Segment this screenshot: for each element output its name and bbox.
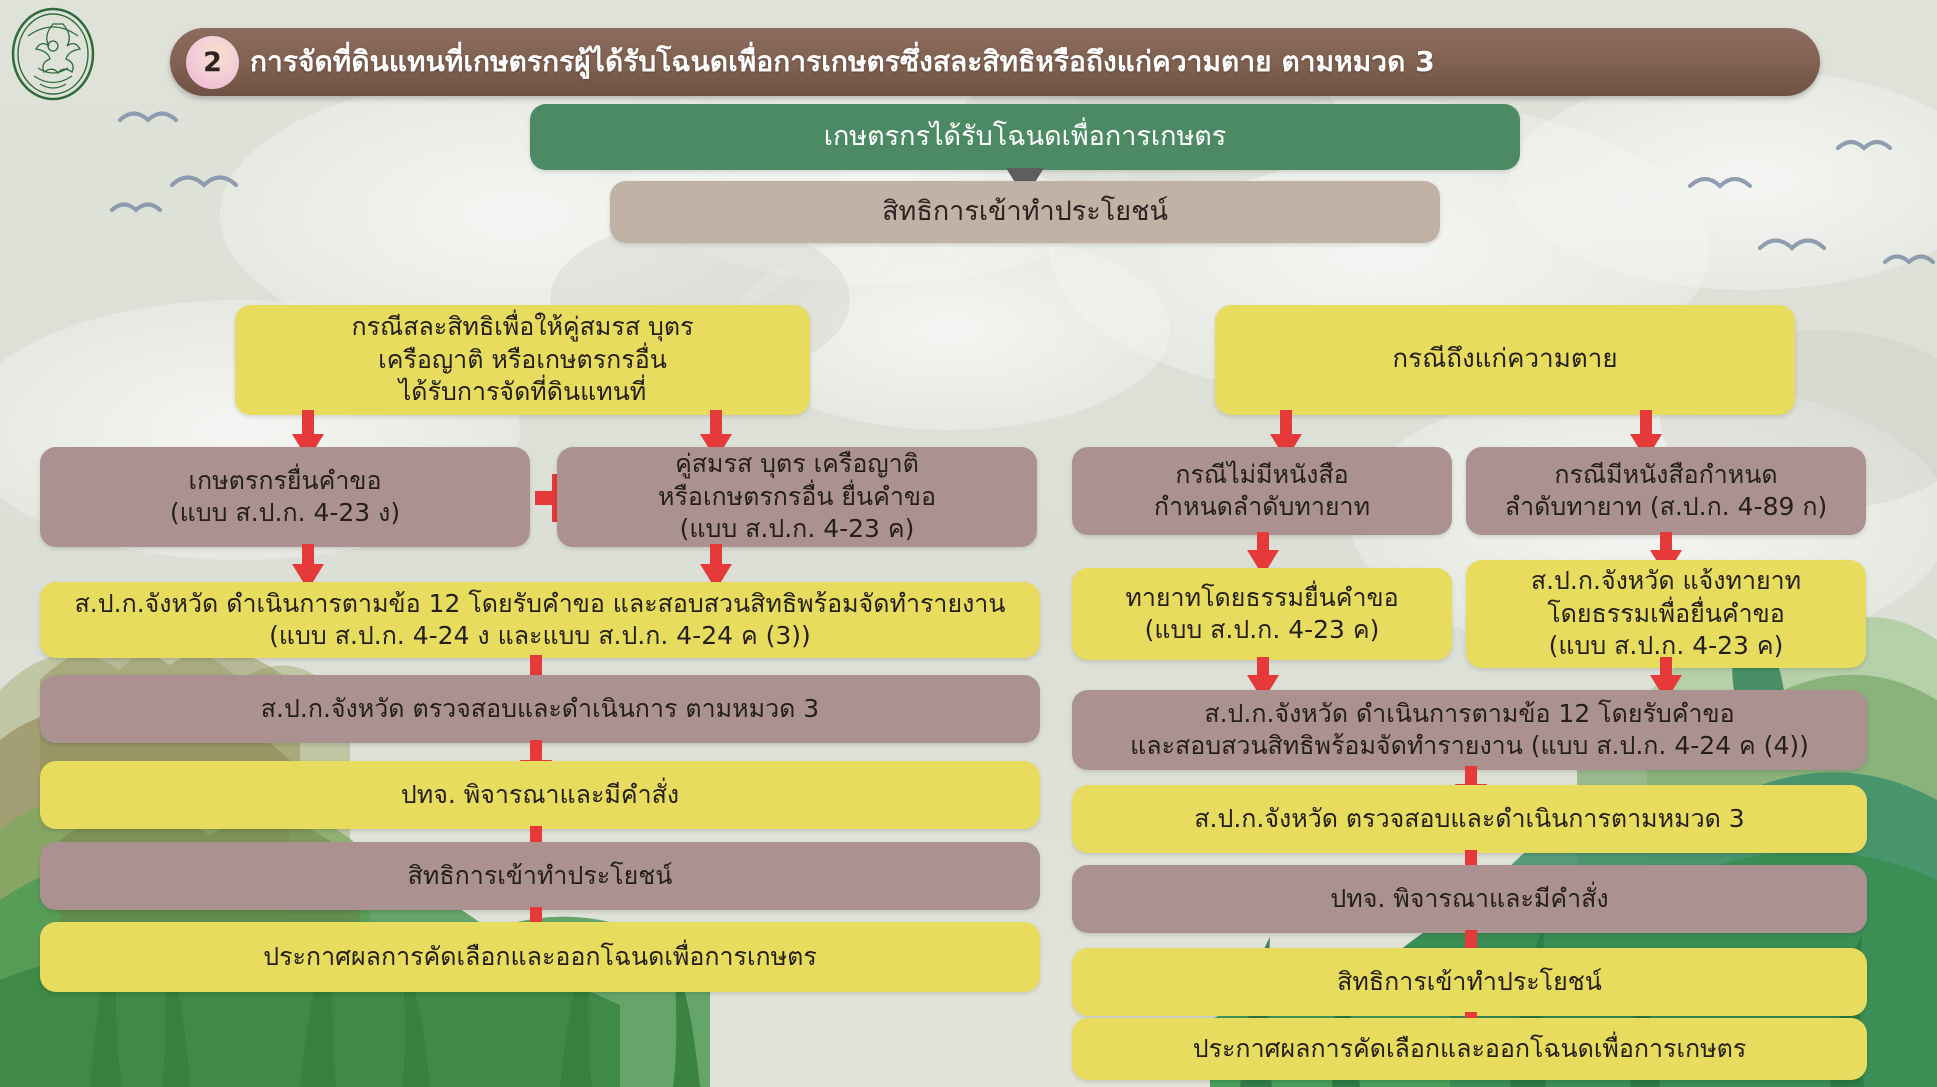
- node-left-pair-1: เกษตรกรยื่นคำขอ (แบบ ส.ป.ก. 4-23 ง): [40, 447, 530, 547]
- node-left-step-2: ส.ป.ก.จังหวัด ตรวจสอบและดำเนินการ ตามหมว…: [40, 675, 1040, 743]
- node-right-branch-header: กรณีถึงแก่ความตาย: [1215, 305, 1795, 415]
- node-right-step-3: ปทจ. พิจารณาและมีคำสั่ง: [1072, 865, 1867, 933]
- section-number-badge: 2: [186, 36, 239, 89]
- node-right-pair-2: กรณีมีหนังสือกำหนด ลำดับทายาท (ส.ป.ก. 4-…: [1466, 447, 1866, 535]
- node-right-step-2: ส.ป.ก.จังหวัด ตรวจสอบและดำเนินการตามหมวด…: [1072, 785, 1867, 853]
- node-top-green: เกษตรกรได้รับโฉนดเพื่อการเกษตร: [530, 104, 1520, 170]
- node-left-pair-2: คู่สมรส บุตร เครือญาติ หรือเกษตรกรอื่น ย…: [557, 447, 1037, 547]
- spk-emblem-logo: [8, 6, 98, 102]
- node-right-step-4: สิทธิการเข้าทำประโยชน์: [1072, 948, 1867, 1016]
- node-right-step-1: ส.ป.ก.จังหวัด ดำเนินการตามข้อ 12 โดยรับค…: [1072, 690, 1867, 770]
- node-right-subpair-1: ทายาทโดยธรรมยื่นคำขอ (แบบ ส.ป.ก. 4-23 ค): [1072, 568, 1452, 660]
- node-right-step-5: ประกาศผลการคัดเลือกและออกโฉนดเพื่อการเกษ…: [1072, 1018, 1867, 1080]
- node-right-pair-1: กรณีไม่มีหนังสือ กำหนดลำดับทายาท: [1072, 447, 1452, 535]
- node-left-step-1: ส.ป.ก.จังหวัด ดำเนินการตามข้อ 12 โดยรับค…: [40, 582, 1040, 658]
- node-left-branch-header: กรณีสละสิทธิเพื่อให้คู่สมรส บุตร เครือญา…: [235, 305, 810, 415]
- node-top-taupe: สิทธิการเข้าทำประโยชน์: [610, 181, 1440, 243]
- node-right-subpair-2: ส.ป.ก.จังหวัด แจ้งทายาท โดยธรรมเพื่อยื่น…: [1466, 560, 1866, 668]
- node-left-step-4: สิทธิการเข้าทำประโยชน์: [40, 842, 1040, 910]
- infographic-canvas: 2 การจัดที่ดินแทนที่เกษตรกรผู้ได้รับโฉนด…: [0, 0, 1937, 1087]
- node-left-step-3: ปทจ. พิจารณาและมีคำสั่ง: [40, 761, 1040, 829]
- node-left-step-5: ประกาศผลการคัดเลือกและออกโฉนดเพื่อการเกษ…: [40, 922, 1040, 992]
- page-title: การจัดที่ดินแทนที่เกษตรกรผู้ได้รับโฉนดเพ…: [250, 28, 1750, 96]
